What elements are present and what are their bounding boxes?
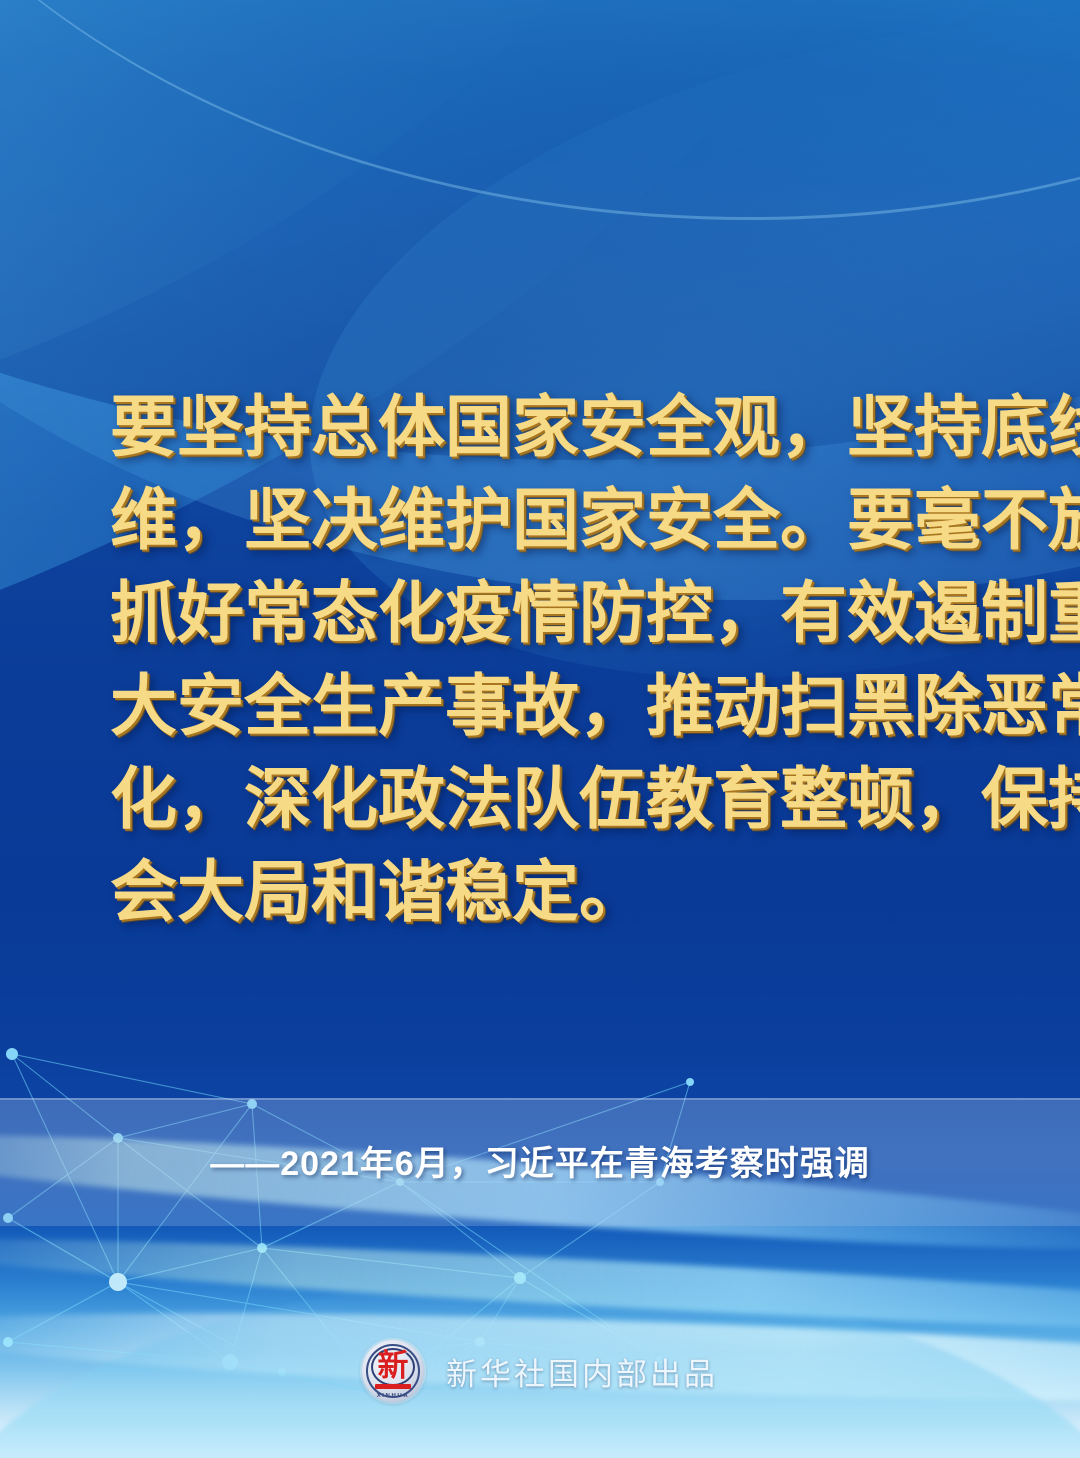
quote-line: 要坚持总体国家安全观，坚持底线思 bbox=[110, 382, 990, 475]
poster-canvas: 要坚持总体国家安全观，坚持底线思 维，坚决维护国家安全。要毫不放松 抓好常态化疫… bbox=[0, 0, 1080, 1458]
xinhua-logo-icon: 新 XINHUA bbox=[362, 1340, 424, 1402]
quote-line: 维，坚决维护国家安全。要毫不放松 bbox=[110, 475, 990, 568]
quote-line: 大安全生产事故，推动扫黑除恶常态 bbox=[110, 661, 990, 754]
footer: 新 XINHUA 新华社国内部出品 bbox=[0, 1340, 1080, 1402]
logo-ring-text: XINHUA bbox=[362, 1393, 424, 1398]
quote-line: 会大局和谐稳定。 bbox=[110, 847, 990, 940]
logo-base-bar bbox=[375, 1384, 411, 1389]
footer-label: 新华社国内部出品 bbox=[446, 1349, 718, 1394]
quote-line: 化，深化政法队伍教育整顿，保持社 bbox=[110, 754, 990, 847]
quote-block: 要坚持总体国家安全观，坚持底线思 维，坚决维护国家安全。要毫不放松 抓好常态化疫… bbox=[110, 382, 990, 940]
logo-glyph: 新 bbox=[362, 1349, 424, 1383]
quote-line: 抓好常态化疫情防控，有效遏制重特 bbox=[110, 568, 990, 661]
attribution-text: ——2021年6月，习近平在青海考察时强调 bbox=[0, 1136, 1080, 1185]
attribution-band-divider bbox=[0, 1098, 1080, 1100]
